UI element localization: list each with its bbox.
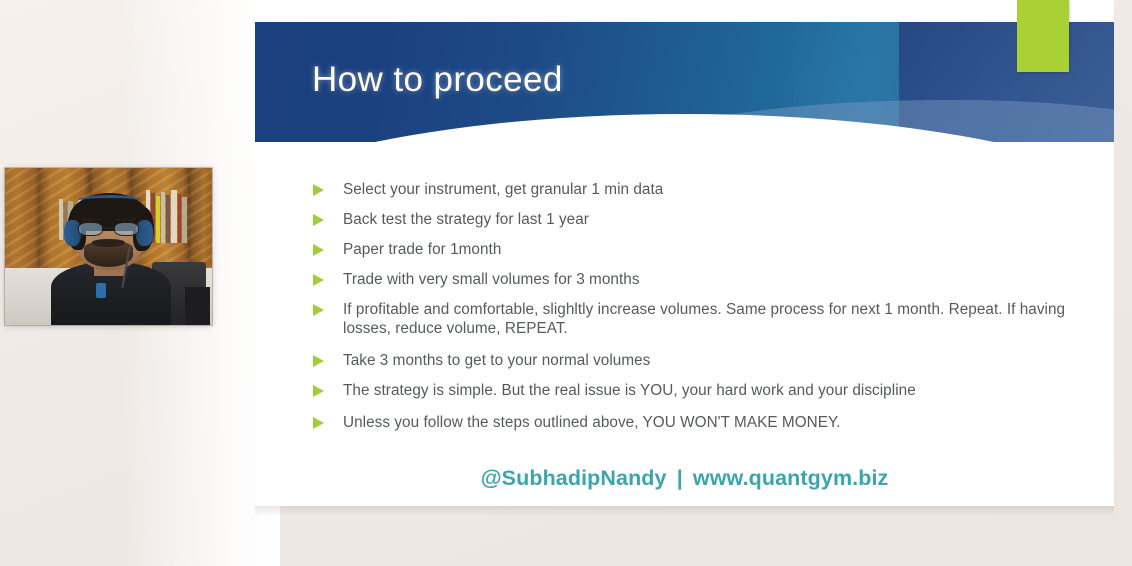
list-item: Trade with very small volumes for 3 mont… <box>313 270 1073 289</box>
webcam-eyeglass-left <box>78 222 103 236</box>
bullet-text: Trade with very small volumes for 3 mont… <box>343 270 640 289</box>
meeting-stage: How to proceed Select your instrument, g… <box>0 0 1132 566</box>
bullet-text: Select your instrument, get granular 1 m… <box>343 180 663 199</box>
webcam-eyeglass-right <box>114 222 139 236</box>
webcam-chair-side <box>185 287 210 325</box>
triangle-bullet-icon <box>313 214 324 226</box>
triangle-bullet-icon <box>313 274 324 286</box>
triangle-bullet-icon <box>313 304 324 316</box>
bullet-text: If profitable and comfortable, slighltly… <box>343 300 1073 338</box>
bullet-text: Unless you follow the steps outlined abo… <box>343 413 841 432</box>
bullet-text: The strategy is simple. But the real iss… <box>343 381 916 400</box>
slide-footer: @SubhadipNandy | www.quantgym.biz <box>255 466 1114 491</box>
footer-website: www.quantgym.biz <box>693 466 889 490</box>
list-item: The strategy is simple. But the real iss… <box>313 381 1073 400</box>
bullet-text: Paper trade for 1month <box>343 240 501 259</box>
list-item: Take 3 months to get to your normal volu… <box>313 351 1073 370</box>
webcam-person-brow-left <box>81 218 102 220</box>
slide-title: How to proceed <box>312 60 563 100</box>
list-item: Select your instrument, get granular 1 m… <box>313 180 1073 199</box>
webcam-headphone-cup-right <box>136 220 153 247</box>
list-item: If profitable and comfortable, slighltly… <box>313 300 1073 338</box>
slide-bullet-list: Select your instrument, get granular 1 m… <box>313 180 1073 443</box>
list-item: Unless you follow the steps outlined abo… <box>313 413 1073 432</box>
slide-drop-shadow <box>255 506 1114 516</box>
triangle-bullet-icon <box>313 244 324 256</box>
webcam-headphone-band <box>77 195 141 208</box>
shared-slide[interactable]: How to proceed Select your instrument, g… <box>255 0 1114 506</box>
slide-green-accent-tab <box>1017 0 1069 72</box>
webcam-person-brow-right <box>116 218 137 220</box>
list-item: Back test the strategy for last 1 year <box>313 210 1073 229</box>
footer-separator: | <box>673 466 687 490</box>
triangle-bullet-icon <box>313 385 324 397</box>
triangle-bullet-icon <box>313 184 324 196</box>
webcam-headphone-cup-left <box>64 220 81 247</box>
webcam-collar-detail <box>96 283 106 299</box>
triangle-bullet-icon <box>313 355 324 367</box>
presenter-webcam-tile[interactable] <box>5 168 212 325</box>
list-item: Paper trade for 1month <box>313 240 1073 259</box>
bullet-text: Back test the strategy for last 1 year <box>343 210 589 229</box>
bullet-text: Take 3 months to get to your normal volu… <box>343 351 650 370</box>
triangle-bullet-icon <box>313 417 324 429</box>
footer-handle: @SubhadipNandy <box>481 466 667 490</box>
webcam-eyeglass-bridge <box>103 227 113 229</box>
